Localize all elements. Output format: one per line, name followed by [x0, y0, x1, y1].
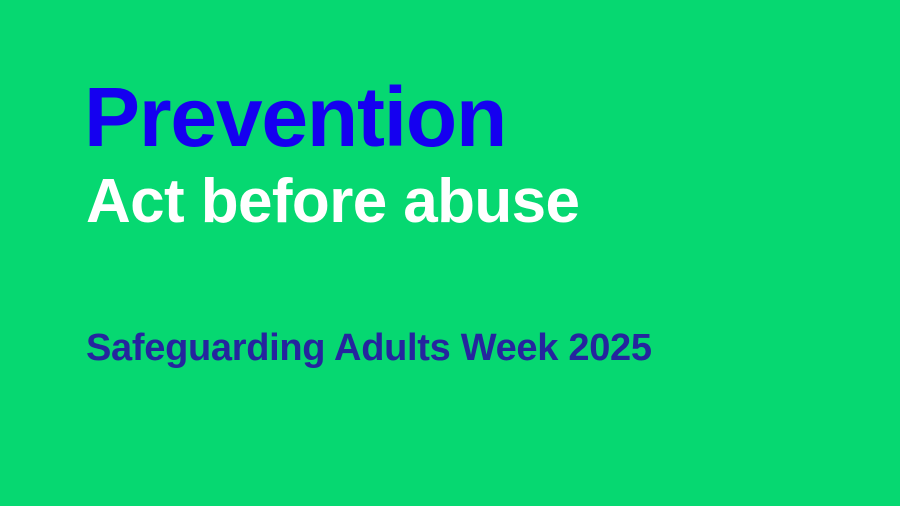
poster-text-block: Prevention Act before abuse: [84, 76, 864, 233]
poster-headline: Prevention: [84, 76, 864, 158]
campaign-poster: Prevention Act before abuse Safeguarding…: [0, 0, 900, 506]
poster-subheadline: Act before abuse: [86, 171, 864, 233]
poster-campaign-line: Safeguarding Adults Week 2025: [86, 329, 652, 367]
